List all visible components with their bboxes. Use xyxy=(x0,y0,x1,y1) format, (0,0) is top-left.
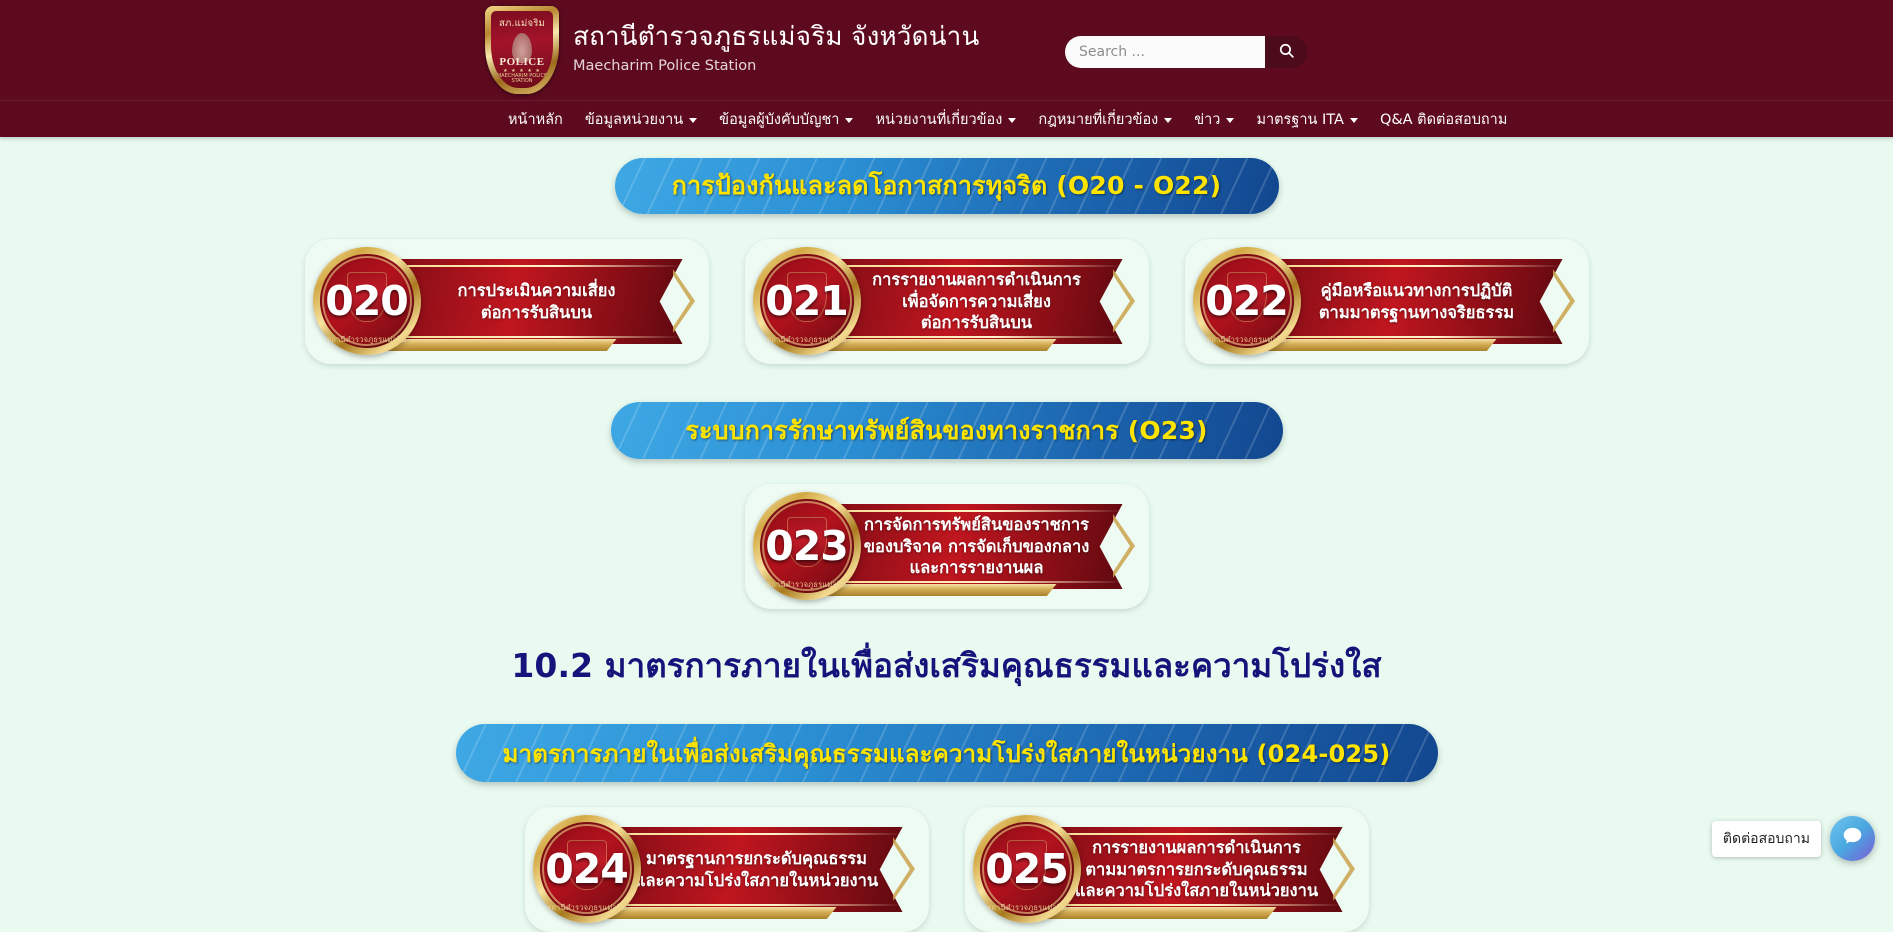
search-button[interactable] xyxy=(1265,36,1307,68)
nav-item-1[interactable]: ข้อมูลหน่วยงาน xyxy=(574,101,708,138)
banner-2-label: ระบบการรักษาทรัพย์สินของทางราชการ (O23) xyxy=(685,411,1207,451)
medallion-arc-text: สถานีตำรวจภูธรแม่จริม xyxy=(753,334,861,346)
chat-widget[interactable]: ติดต่อสอบถาม xyxy=(1712,816,1875,861)
nav-item-label: ข้อมูลผู้บังคับบัญชา xyxy=(719,108,839,131)
medallion-number: 024 xyxy=(545,845,628,893)
award-card-020[interactable]: การประเมินความเสี่ยงต่อการรับสินบน020สถา… xyxy=(305,239,709,364)
card-title-line: ของบริจาค การจัดเก็บของกลาง xyxy=(847,536,1107,558)
nav-item-7[interactable]: Q&A ติดต่อสอบถาม xyxy=(1369,101,1518,138)
card-title-line: การจัดการทรัพย์สินของราชการ xyxy=(847,514,1107,536)
banner-3-label: มาตรการภายในเพื่อส่งเสริมคุณธรรมและความโ… xyxy=(503,734,1391,773)
nav-item-0[interactable]: หน้าหลัก xyxy=(497,101,574,138)
medallion-number: 021 xyxy=(765,277,848,325)
nav-item-label: ข้อมูลหน่วยงาน xyxy=(585,108,683,131)
chevron-down-icon xyxy=(689,118,697,123)
card-title-line: มาตรฐานการยกระดับคุณธรรม xyxy=(627,848,887,870)
medallion-024: 024สถานีตำรวจภูธรแม่จริม xyxy=(533,815,641,923)
card-title: คู่มือหรือแนวทางการปฏิบัติตามมาตรฐานทางจ… xyxy=(1287,280,1547,324)
nav-item-label: หน้าหลัก xyxy=(508,108,563,131)
ribbon-tip-inner-decoration xyxy=(893,843,910,895)
nav-item-label: มาตรฐาน ITA xyxy=(1256,108,1344,131)
nav-item-3[interactable]: หน่วยงานที่เกี่ยวข้อง xyxy=(864,101,1027,138)
card-title: การประเมินความเสี่ยงต่อการรับสินบน xyxy=(407,280,667,324)
medallion-number: 022 xyxy=(1205,277,1288,325)
card-title: การจัดการทรัพย์สินของราชการของบริจาค การ… xyxy=(847,514,1107,579)
medallion-025: 025สถานีตำรวจภูธรแม่จริม xyxy=(973,815,1081,923)
medallion-arc-text: สถานีตำรวจภูธรแม่จริม xyxy=(1193,334,1301,346)
medallion-023: 023สถานีตำรวจภูธรแม่จริม xyxy=(753,492,861,600)
medallion-number: 020 xyxy=(325,277,408,325)
award-card-025[interactable]: การรายงานผลการดำเนินการตามมาตรการยกระดับ… xyxy=(965,807,1369,932)
card-title-line: ตามมาตรฐานทางจริยธรรม xyxy=(1287,302,1547,324)
shield-police-text: POLICE xyxy=(491,56,553,68)
card-row-024-025: มาตรฐานการยกระดับคุณธรรมและความโปร่งใสภา… xyxy=(0,807,1893,932)
card-title-line: และความโปร่งใสภายในหน่วยงาน xyxy=(1067,880,1327,902)
chevron-down-icon xyxy=(1008,118,1016,123)
medallion-arc-text: สถานีตำรวจภูธรแม่จริม xyxy=(753,579,861,591)
card-title-line: การรายงานผลการดำเนินการ xyxy=(1067,837,1327,859)
brand-text: สถานีตำรวจภูธรแม่จริม จังหวัดน่าน Maecha… xyxy=(573,23,979,76)
police-shield-logo-icon: สภ.แม่จริม POLICE ★ ★ ★ ★ ★ MAECHARIM PO… xyxy=(485,6,559,94)
nav-item-2[interactable]: ข้อมูลผู้บังคับบัญชา xyxy=(708,101,864,138)
ribbon-tip-inner-decoration xyxy=(673,275,690,327)
ribbon-tip-inner-decoration xyxy=(1113,275,1130,327)
banner-1-label: การป้องกันและลดโอกาสการทุจริต (O20 - O22… xyxy=(672,166,1221,206)
card-title-line: และการรายงานผล xyxy=(847,557,1107,579)
nav-item-6[interactable]: มาตรฐาน ITA xyxy=(1245,101,1369,138)
ribbon-tip-inner-decoration xyxy=(1553,275,1570,327)
main-navigation[interactable]: หน้าหลักข้อมูลหน่วยงานข้อมูลผู้บังคับบัญ… xyxy=(0,100,1893,137)
chat-widget-label: ติดต่อสอบถาม xyxy=(1712,821,1821,857)
medallion-number: 025 xyxy=(985,845,1068,893)
search-box[interactable] xyxy=(1065,36,1307,68)
nav-item-label: กฎหมายที่เกี่ยวข้อง xyxy=(1038,108,1158,131)
medallion-arc-text: สถานีตำรวจภูธรแม่จริม xyxy=(313,334,421,346)
site-header: สภ.แม่จริม POLICE ★ ★ ★ ★ ★ MAECHARIM PO… xyxy=(0,0,1893,100)
card-row-o23: การจัดการทรัพย์สินของราชการของบริจาค การ… xyxy=(0,484,1893,609)
card-title-line: เพื่อจัดการความเสี่ยง xyxy=(847,291,1107,313)
card-title-line: การประเมินความเสี่ยง xyxy=(407,280,667,302)
medallion-020: 020สถานีตำรวจภูธรแม่จริม xyxy=(313,247,421,355)
card-title-line: ต่อการรับสินบน xyxy=(407,302,667,324)
chevron-down-icon xyxy=(1226,118,1234,123)
card-title: การรายงานผลการดำเนินการเพื่อจัดการความเส… xyxy=(847,269,1107,334)
site-title-th: สถานีตำรวจภูธรแม่จริม จังหวัดน่าน xyxy=(573,23,979,53)
medallion-022: 022สถานีตำรวจภูธรแม่จริม xyxy=(1193,247,1301,355)
site-title-en: Maecharim Police Station xyxy=(573,56,979,76)
search-icon xyxy=(1278,42,1295,62)
award-card-023[interactable]: การจัดการทรัพย์สินของราชการของบริจาค การ… xyxy=(745,484,1149,609)
chevron-down-icon xyxy=(1164,118,1172,123)
banner-asset-system-o23[interactable]: ระบบการรักษาทรัพย์สินของทางราชการ (O23) xyxy=(611,402,1283,459)
search-input[interactable] xyxy=(1065,36,1265,68)
banner-prevention-o20-o22[interactable]: การป้องกันและลดโอกาสการทุจริต (O20 - O22… xyxy=(615,158,1279,214)
chevron-down-icon xyxy=(845,118,853,123)
shield-bottom-text: MAECHARIM POLICE STATION xyxy=(491,74,553,86)
ribbon-tip-inner-decoration xyxy=(1333,843,1350,895)
medallion-arc-text: สถานีตำรวจภูธรแม่จริม xyxy=(533,902,641,914)
shield-top-text: สภ.แม่จริม xyxy=(491,16,553,31)
nav-item-4[interactable]: กฎหมายที่เกี่ยวข้อง xyxy=(1027,101,1183,138)
nav-item-5[interactable]: ข่าว xyxy=(1183,101,1245,138)
nav-item-label: ข่าว xyxy=(1194,108,1220,131)
card-title-line: ตามมาตรการยกระดับคุณธรรม xyxy=(1067,859,1327,881)
chevron-down-icon xyxy=(1350,118,1358,123)
award-card-021[interactable]: การรายงานผลการดำเนินการเพื่อจัดการความเส… xyxy=(745,239,1149,364)
medallion-arc-text: สถานีตำรวจภูธรแม่จริม xyxy=(973,902,1081,914)
medallion-021: 021สถานีตำรวจภูธรแม่จริม xyxy=(753,247,861,355)
section-heading-10-2: 10.2 มาตรการภายในเพื่อส่งเสริมคุณธรรมและ… xyxy=(0,639,1893,692)
card-title: การรายงานผลการดำเนินการตามมาตรการยกระดับ… xyxy=(1067,837,1327,902)
card-title-line: ต่อการรับสินบน xyxy=(847,312,1107,334)
card-title-line: คู่มือหรือแนวทางการปฏิบัติ xyxy=(1287,280,1547,302)
card-title: มาตรฐานการยกระดับคุณธรรมและความโปร่งใสภา… xyxy=(627,848,887,892)
award-card-022[interactable]: คู่มือหรือแนวทางการปฏิบัติตามมาตรฐานทางจ… xyxy=(1185,239,1589,364)
card-title-line: การรายงานผลการดำเนินการ xyxy=(847,269,1107,291)
brand-block[interactable]: สภ.แม่จริม POLICE ★ ★ ★ ★ ★ MAECHARIM PO… xyxy=(485,6,979,94)
ribbon-tip-inner-decoration xyxy=(1113,520,1130,572)
chat-bubble-button[interactable] xyxy=(1830,816,1875,861)
nav-item-label: Q&A ติดต่อสอบถาม xyxy=(1380,108,1507,131)
chat-bubble-icon xyxy=(1841,825,1864,852)
card-title-line: และความโปร่งใสภายในหน่วยงาน xyxy=(627,870,887,892)
medallion-number: 023 xyxy=(765,522,848,570)
card-row-o20-o22: การประเมินความเสี่ยงต่อการรับสินบน020สถา… xyxy=(0,239,1893,364)
banner-internal-measures-024-025[interactable]: มาตรการภายในเพื่อส่งเสริมคุณธรรมและความโ… xyxy=(456,724,1438,782)
nav-item-label: หน่วยงานที่เกี่ยวข้อง xyxy=(875,108,1002,131)
award-card-024[interactable]: มาตรฐานการยกระดับคุณธรรมและความโปร่งใสภา… xyxy=(525,807,929,932)
page-content: การป้องกันและลดโอกาสการทุจริต (O20 - O22… xyxy=(0,158,1893,932)
